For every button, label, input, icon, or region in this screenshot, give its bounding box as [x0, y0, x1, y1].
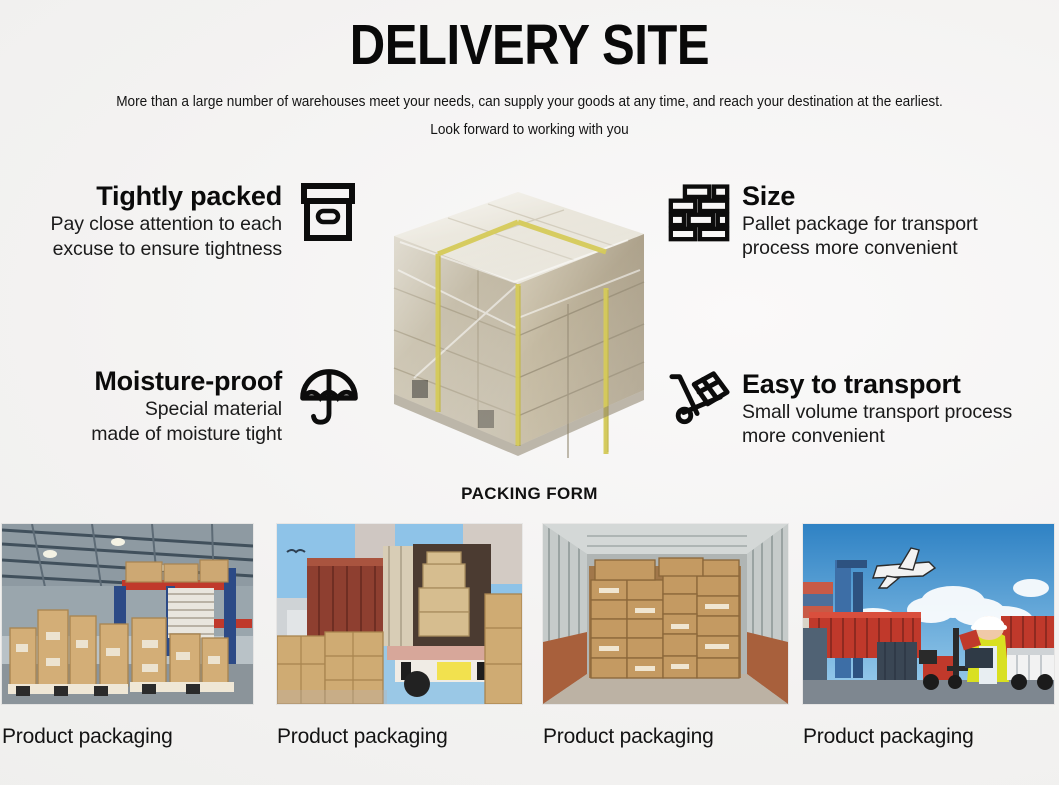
loaded-container-interior-photo [543, 524, 788, 704]
gallery-caption: Product packaging [2, 724, 253, 750]
feature-moisture-proof: Moisture-proof Special material made of … [0, 365, 360, 447]
warehouse-pallets-photo [2, 524, 253, 704]
subtitle-line-2: Look forward to working with you [32, 116, 1027, 144]
page-title: DELIVERY SITE [74, 14, 985, 76]
feature-easy-to-transport: Easy to transport Small volume transport… [668, 368, 1059, 448]
feature-text: Easy to transport Small volume transport… [742, 368, 1052, 448]
gallery-item[interactable]: Product packaging [803, 524, 1054, 750]
gallery-item[interactable]: Product packaging [277, 524, 522, 750]
brick-wall-icon [668, 180, 730, 247]
feature-tightly-packed: Tightly packed Pay close attention to ea… [0, 180, 360, 262]
feature-body-line-2: process more convenient [742, 236, 1042, 260]
archive-box-icon [296, 180, 360, 249]
feature-body-line-2: excuse to ensure tightness [0, 237, 282, 262]
umbrella-icon [298, 365, 360, 432]
feature-body-line-2: made of moisture tight [0, 422, 282, 447]
feature-body-line-2: more convenient [742, 424, 1052, 448]
packing-form-heading: PACKING FORM [0, 484, 1059, 504]
feature-heading: Easy to transport [742, 368, 1052, 400]
gallery-caption: Product packaging [277, 724, 522, 750]
subtitle-line-1: More than a large number of warehouses m… [116, 94, 943, 110]
gallery-caption: Product packaging [803, 724, 1054, 750]
feature-heading: Moisture-proof [0, 365, 282, 397]
gallery-item[interactable]: Product packaging [2, 524, 253, 750]
feature-heading: Tightly packed [0, 180, 282, 212]
feature-heading: Size [742, 180, 1042, 212]
feature-text: Moisture-proof Special material made of … [0, 365, 282, 447]
feature-text: Size Pallet package for transport proces… [742, 180, 1042, 260]
delivery-site-banner: DELIVERY SITE More than a large number o… [0, 0, 1059, 785]
logistics-port-photo [803, 524, 1054, 704]
feature-body-line-1: Small volume transport process [742, 400, 1052, 424]
feature-text: Tightly packed Pay close attention to ea… [0, 180, 282, 262]
feature-size: Size Pallet package for transport proces… [668, 180, 1059, 260]
shrink-wrapped-pallet-photo [378, 178, 658, 458]
feature-body-line-1: Special material [0, 397, 282, 422]
container-loading-photo [277, 524, 522, 704]
gallery-caption: Product packaging [543, 724, 788, 750]
packing-form-gallery: Product packaging [0, 524, 1059, 774]
feature-body-line-1: Pay close attention to each [0, 212, 282, 237]
page-subtitle: More than a large number of warehouses m… [32, 88, 1027, 144]
hand-truck-icon [668, 368, 732, 433]
feature-body-line-1: Pallet package for transport [742, 212, 1042, 236]
gallery-item[interactable]: Product packaging [543, 524, 788, 750]
